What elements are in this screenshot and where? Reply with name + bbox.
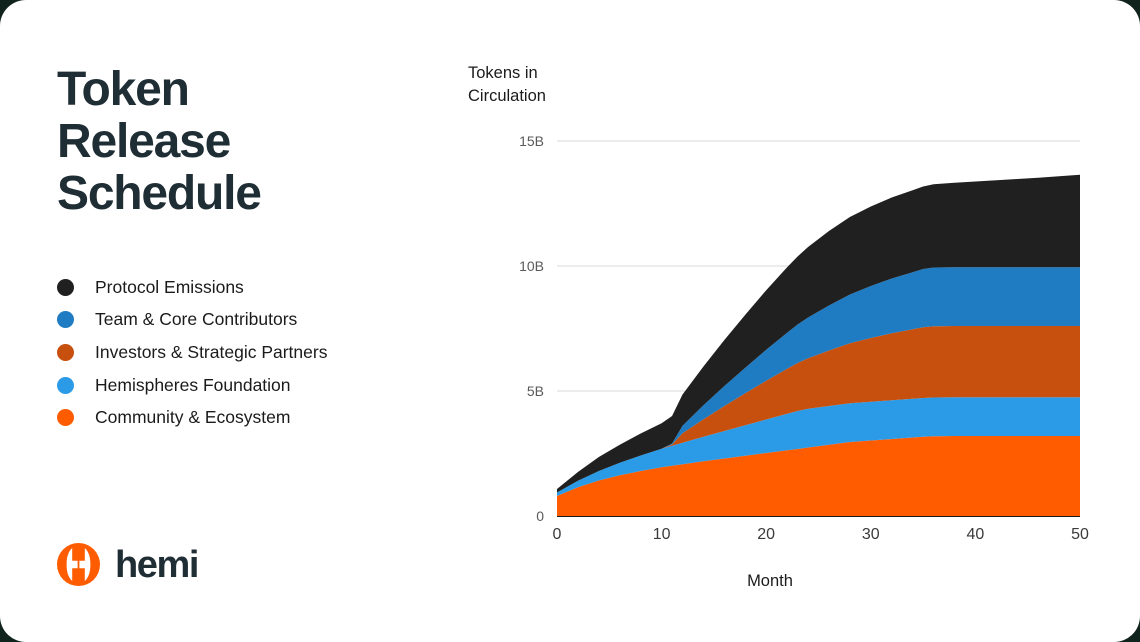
legend-item[interactable]: Community & Ecosystem bbox=[57, 401, 417, 434]
y-axis-tick-label: 0 bbox=[484, 508, 544, 524]
chart-card: Token Release Schedule Protocol Emission… bbox=[0, 0, 1140, 642]
x-axis-tick-label: 30 bbox=[841, 526, 901, 544]
title-line-2: Release bbox=[57, 116, 417, 168]
page-title: Token Release Schedule bbox=[57, 64, 417, 220]
legend-item[interactable]: Hemispheres Foundation bbox=[57, 369, 417, 402]
hemi-logo-icon bbox=[57, 543, 100, 586]
chart-legend: Protocol EmissionsTeam & Core Contributo… bbox=[57, 271, 417, 434]
x-axis-tick-label: 20 bbox=[736, 526, 796, 544]
x-axis-tick-label: 10 bbox=[632, 526, 692, 544]
legend-item-label: Protocol Emissions bbox=[95, 277, 244, 298]
legend-item[interactable]: Protocol Emissions bbox=[57, 271, 417, 304]
left-panel: Token Release Schedule Protocol Emission… bbox=[57, 64, 417, 434]
legend-item-label: Investors & Strategic Partners bbox=[95, 342, 327, 363]
x-axis-label: Month bbox=[440, 572, 1100, 591]
x-axis-tick-label: 40 bbox=[945, 526, 1005, 544]
title-line-3: Schedule bbox=[57, 168, 417, 220]
legend-swatch-icon bbox=[57, 377, 74, 394]
title-line-1: Token bbox=[57, 64, 417, 116]
x-axis-tick-label: 0 bbox=[527, 526, 587, 544]
y-axis-tick-label: 15B bbox=[484, 133, 544, 149]
stacked-area-chart bbox=[440, 50, 1100, 570]
y-axis-tick-label: 10B bbox=[484, 258, 544, 274]
legend-swatch-icon bbox=[57, 409, 74, 426]
legend-swatch-icon bbox=[57, 279, 74, 296]
legend-swatch-icon bbox=[57, 311, 74, 328]
legend-swatch-icon bbox=[57, 344, 74, 361]
chart-area: Tokens in Circulation 05B10B15B010203040… bbox=[440, 50, 1100, 610]
legend-item-label: Community & Ecosystem bbox=[95, 407, 290, 428]
legend-item[interactable]: Team & Core Contributors bbox=[57, 304, 417, 337]
y-axis-tick-label: 5B bbox=[484, 383, 544, 399]
hemi-logo: hemi bbox=[57, 543, 198, 586]
legend-item-label: Team & Core Contributors bbox=[95, 309, 297, 330]
x-axis-tick-label: 50 bbox=[1050, 526, 1110, 544]
chart-plot: 05B10B15B01020304050 bbox=[440, 50, 1100, 570]
legend-item-label: Hemispheres Foundation bbox=[95, 375, 291, 396]
legend-item[interactable]: Investors & Strategic Partners bbox=[57, 336, 417, 369]
hemi-wordmark: hemi bbox=[115, 546, 198, 584]
